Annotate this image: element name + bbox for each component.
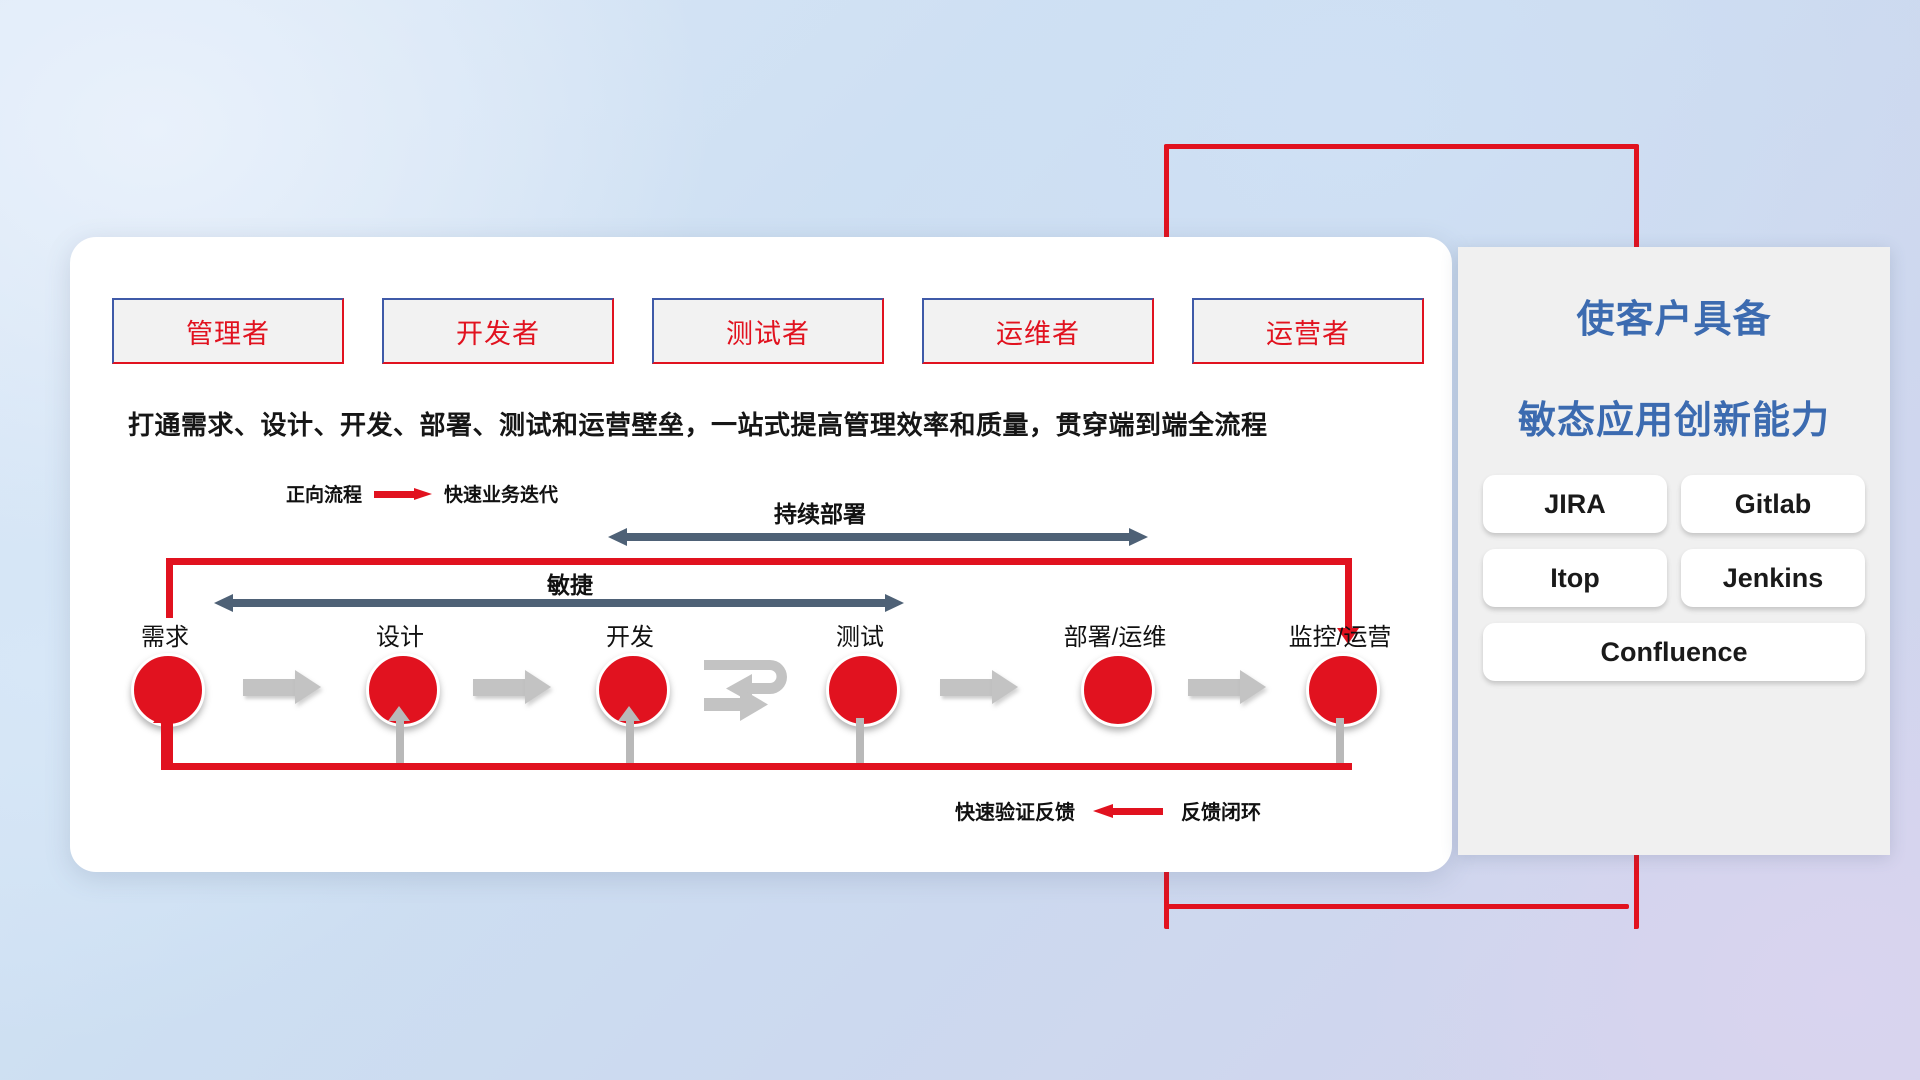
role-chip-list: 管理者 开发者 测试者 运维者 运营者	[112, 298, 1424, 364]
red-loop-top	[166, 558, 1352, 565]
tool-tag-label: Gitlab	[1735, 489, 1812, 520]
tool-tag-jira[interactable]: JIRA	[1483, 475, 1667, 533]
tool-tag-label: Confluence	[1600, 637, 1747, 668]
continuous-deployment-arrow-icon	[608, 528, 1148, 546]
tool-tag-jenkins[interactable]: Jenkins	[1681, 549, 1865, 607]
role-chip-ops[interactable]: 运维者	[922, 298, 1154, 364]
tool-tag-label: Itop	[1550, 563, 1599, 594]
pipeline-label-develop: 开发	[565, 617, 695, 652]
fast-iteration-label: 快速业务迭代	[444, 480, 558, 507]
role-chip-operations[interactable]: 运营者	[1192, 298, 1424, 364]
red-loop-bottom-rail	[166, 763, 1352, 770]
pipeline-label-deploy-ops: 部署/运维	[1030, 617, 1200, 652]
pipeline-node-monitor-run[interactable]	[1306, 653, 1380, 727]
pipeline-label-monitor-run: 监控/运营	[1255, 617, 1425, 652]
pipeline-arrow-4-icon	[940, 670, 1018, 704]
tool-tag-label: Jenkins	[1723, 563, 1824, 594]
role-chip-developer[interactable]: 开发者	[382, 298, 614, 364]
pipeline-uturn-arrow-icon	[700, 654, 820, 726]
tool-tag-list: JIRA Gitlab Itop Jenkins Confluence	[1463, 475, 1885, 681]
agile-arrow-icon	[214, 594, 904, 612]
red-loop-left-vertical	[166, 558, 173, 618]
feedback-legend: 快速验证反馈 反馈闭环	[955, 796, 1261, 825]
arrow-left-red-icon	[1093, 804, 1163, 817]
tool-tag-confluence[interactable]: Confluence	[1483, 623, 1865, 681]
arrow-right-red-icon	[374, 488, 432, 500]
role-chip-label: 测试者	[726, 312, 810, 351]
panel-title-line1: 使客户具备	[1458, 288, 1890, 343]
pipeline-arrow-5-icon	[1188, 670, 1266, 704]
pipeline-node-deploy-ops[interactable]	[1081, 653, 1155, 727]
forward-flow-label: 正向流程	[286, 480, 362, 507]
role-chip-tester[interactable]: 测试者	[652, 298, 884, 364]
pipeline-label-design: 设计	[335, 617, 465, 652]
red-loop-arrowhead-up-icon	[153, 708, 175, 723]
tool-tag-itop[interactable]: Itop	[1483, 549, 1667, 607]
continuous-deployment-label: 持续部署	[690, 495, 950, 529]
description-text: 打通需求、设计、开发、部署、测试和运营壁垒，一站式提高管理效率和质量，贯穿端到端…	[128, 405, 1418, 442]
node-stub-head-develop	[618, 706, 640, 721]
node-stub-head-design	[388, 706, 410, 721]
pipeline-node-test[interactable]	[826, 653, 900, 727]
node-stub-requirement-red	[161, 722, 169, 770]
role-chip-label: 运维者	[996, 312, 1080, 351]
fast-verify-feedback-label: 快速验证反馈	[955, 796, 1075, 825]
forward-flow-legend: 正向流程 快速业务迭代	[286, 480, 558, 507]
pipeline-arrow-1-icon	[243, 670, 321, 704]
role-chip-manager[interactable]: 管理者	[112, 298, 344, 364]
tool-tag-label: JIRA	[1544, 489, 1606, 520]
pipeline-arrow-2-icon	[473, 670, 551, 704]
feedback-loop-label: 反馈闭环	[1181, 796, 1261, 825]
tool-tag-gitlab[interactable]: Gitlab	[1681, 475, 1865, 533]
pipeline-label-requirement: 需求	[100, 617, 230, 652]
role-chip-label: 管理者	[186, 312, 270, 351]
panel-title-line2: 敏态应用创新能力	[1458, 389, 1890, 444]
role-chip-label: 运营者	[1266, 312, 1350, 351]
role-chip-label: 开发者	[456, 312, 540, 351]
red-connector-frame-bottom	[1164, 904, 1629, 909]
pipeline-label-test: 测试	[795, 617, 925, 652]
